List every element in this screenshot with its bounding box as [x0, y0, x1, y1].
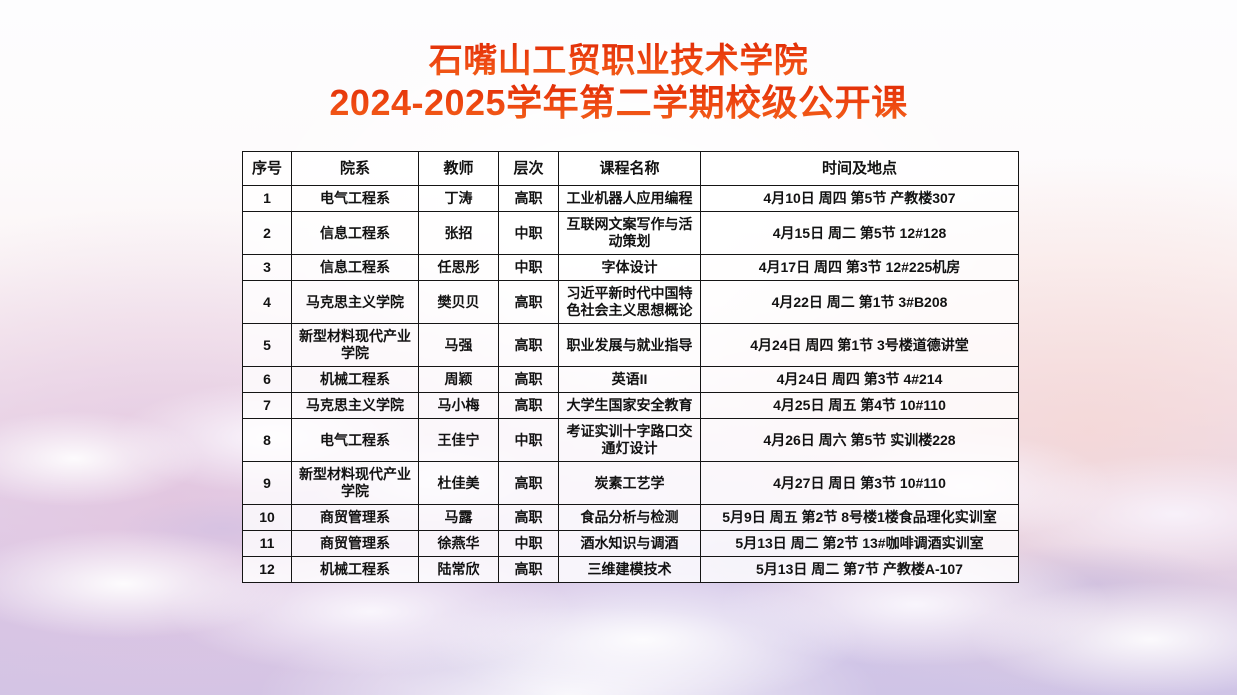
cell-course: 工业机器人应用编程 [559, 186, 701, 212]
cell-course: 英语II [559, 367, 701, 393]
cell-no: 8 [243, 419, 292, 462]
cell-course: 炭素工艺学 [559, 462, 701, 505]
cell-course: 食品分析与检测 [559, 505, 701, 531]
cell-time: 5月13日 周二 第7节 产教楼A-107 [701, 557, 1019, 583]
cell-dept: 马克思主义学院 [292, 393, 419, 419]
table-row: 9新型材料现代产业学院杜佳美高职炭素工艺学4月27日 周日 第3节 10#110 [243, 462, 1019, 505]
cell-time: 4月27日 周日 第3节 10#110 [701, 462, 1019, 505]
cell-course: 职业发展与就业指导 [559, 324, 701, 367]
cell-no: 3 [243, 255, 292, 281]
cell-dept: 新型材料现代产业学院 [292, 324, 419, 367]
cell-time: 4月26日 周六 第5节 实训楼228 [701, 419, 1019, 462]
column-header-course: 课程名称 [559, 152, 701, 186]
cell-time: 4月10日 周四 第5节 产教楼307 [701, 186, 1019, 212]
schedule-table: 序号 院系 教师 层次 课程名称 时间及地点 1电气工程系丁涛高职工业机器人应用… [242, 151, 1019, 583]
cell-teacher: 周颖 [419, 367, 499, 393]
cell-level: 高职 [499, 557, 559, 583]
cell-no: 12 [243, 557, 292, 583]
cell-no: 10 [243, 505, 292, 531]
cell-level: 高职 [499, 505, 559, 531]
cell-dept: 新型材料现代产业学院 [292, 462, 419, 505]
cell-no: 2 [243, 212, 292, 255]
slide-canvas: 石嘴山工贸职业技术学院 2024-2025学年第二学期校级公开课 序号 院系 教… [0, 0, 1237, 695]
cell-time: 4月24日 周四 第1节 3号楼道德讲堂 [701, 324, 1019, 367]
cell-dept: 商贸管理系 [292, 505, 419, 531]
cell-teacher: 樊贝贝 [419, 281, 499, 324]
cell-time: 4月24日 周四 第3节 4#214 [701, 367, 1019, 393]
cell-course: 习近平新时代中国特色社会主义思想概论 [559, 281, 701, 324]
cell-no: 7 [243, 393, 292, 419]
table-row: 4马克思主义学院樊贝贝高职习近平新时代中国特色社会主义思想概论4月22日 周二 … [243, 281, 1019, 324]
column-header-dept: 院系 [292, 152, 419, 186]
schedule-table-container: 序号 院系 教师 层次 课程名称 时间及地点 1电气工程系丁涛高职工业机器人应用… [242, 151, 1018, 583]
cell-dept: 电气工程系 [292, 419, 419, 462]
cell-course: 酒水知识与调酒 [559, 531, 701, 557]
cell-course: 字体设计 [559, 255, 701, 281]
cell-no: 5 [243, 324, 292, 367]
cell-level: 高职 [499, 324, 559, 367]
cell-level: 中职 [499, 531, 559, 557]
cell-no: 11 [243, 531, 292, 557]
cell-teacher: 丁涛 [419, 186, 499, 212]
cell-teacher: 张招 [419, 212, 499, 255]
cell-level: 高职 [499, 281, 559, 324]
table-row: 8电气工程系王佳宁中职考证实训十字路口交通灯设计4月26日 周六 第5节 实训楼… [243, 419, 1019, 462]
cell-time: 5月13日 周二 第2节 13#咖啡调酒实训室 [701, 531, 1019, 557]
cell-time: 4月15日 周二 第5节 12#128 [701, 212, 1019, 255]
column-header-teacher: 教师 [419, 152, 499, 186]
cell-teacher: 王佳宁 [419, 419, 499, 462]
cell-course: 互联网文案写作与活动策划 [559, 212, 701, 255]
cell-level: 高职 [499, 367, 559, 393]
cell-dept: 商贸管理系 [292, 531, 419, 557]
table-row: 2信息工程系张招中职互联网文案写作与活动策划4月15日 周二 第5节 12#12… [243, 212, 1019, 255]
cell-level: 中职 [499, 212, 559, 255]
cell-level: 高职 [499, 462, 559, 505]
cell-no: 1 [243, 186, 292, 212]
cell-level: 高职 [499, 186, 559, 212]
cell-teacher: 陆常欣 [419, 557, 499, 583]
table-row: 5新型材料现代产业学院马强高职职业发展与就业指导4月24日 周四 第1节 3号楼… [243, 324, 1019, 367]
table-row: 6机械工程系周颖高职英语II4月24日 周四 第3节 4#214 [243, 367, 1019, 393]
cell-dept: 马克思主义学院 [292, 281, 419, 324]
cell-teacher: 马露 [419, 505, 499, 531]
cell-teacher: 杜佳美 [419, 462, 499, 505]
table-row: 7马克思主义学院马小梅高职大学生国家安全教育4月25日 周五 第4节 10#11… [243, 393, 1019, 419]
table-row: 1电气工程系丁涛高职工业机器人应用编程4月10日 周四 第5节 产教楼307 [243, 186, 1019, 212]
cell-teacher: 马小梅 [419, 393, 499, 419]
cell-course: 大学生国家安全教育 [559, 393, 701, 419]
cell-dept: 机械工程系 [292, 557, 419, 583]
cell-course: 考证实训十字路口交通灯设计 [559, 419, 701, 462]
cell-teacher: 任思彤 [419, 255, 499, 281]
title-line-term: 2024-2025学年第二学期校级公开课 [0, 82, 1237, 124]
cell-level: 中职 [499, 419, 559, 462]
cell-time: 4月22日 周二 第1节 3#B208 [701, 281, 1019, 324]
cell-dept: 信息工程系 [292, 255, 419, 281]
cell-no: 9 [243, 462, 292, 505]
schedule-table-body: 1电气工程系丁涛高职工业机器人应用编程4月10日 周四 第5节 产教楼3072信… [243, 186, 1019, 583]
cell-teacher: 徐燕华 [419, 531, 499, 557]
cell-dept: 机械工程系 [292, 367, 419, 393]
table-header-row: 序号 院系 教师 层次 课程名称 时间及地点 [243, 152, 1019, 186]
table-row: 10商贸管理系马露高职食品分析与检测5月9日 周五 第2节 8号楼1楼食品理化实… [243, 505, 1019, 531]
cell-dept: 信息工程系 [292, 212, 419, 255]
cell-time: 4月25日 周五 第4节 10#110 [701, 393, 1019, 419]
cell-level: 中职 [499, 255, 559, 281]
column-header-no: 序号 [243, 152, 292, 186]
table-row: 3信息工程系任思彤中职字体设计4月17日 周四 第3节 12#225机房 [243, 255, 1019, 281]
cell-time: 4月17日 周四 第3节 12#225机房 [701, 255, 1019, 281]
cell-time: 5月9日 周五 第2节 8号楼1楼食品理化实训室 [701, 505, 1019, 531]
column-header-time: 时间及地点 [701, 152, 1019, 186]
column-header-level: 层次 [499, 152, 559, 186]
cell-teacher: 马强 [419, 324, 499, 367]
cell-course: 三维建模技术 [559, 557, 701, 583]
cell-no: 6 [243, 367, 292, 393]
page-title: 石嘴山工贸职业技术学院 2024-2025学年第二学期校级公开课 [0, 40, 1237, 124]
table-row: 12机械工程系陆常欣高职三维建模技术5月13日 周二 第7节 产教楼A-107 [243, 557, 1019, 583]
title-line-institution: 石嘴山工贸职业技术学院 [0, 40, 1237, 82]
cell-no: 4 [243, 281, 292, 324]
cell-level: 高职 [499, 393, 559, 419]
table-row: 11商贸管理系徐燕华中职酒水知识与调酒5月13日 周二 第2节 13#咖啡调酒实… [243, 531, 1019, 557]
cell-dept: 电气工程系 [292, 186, 419, 212]
